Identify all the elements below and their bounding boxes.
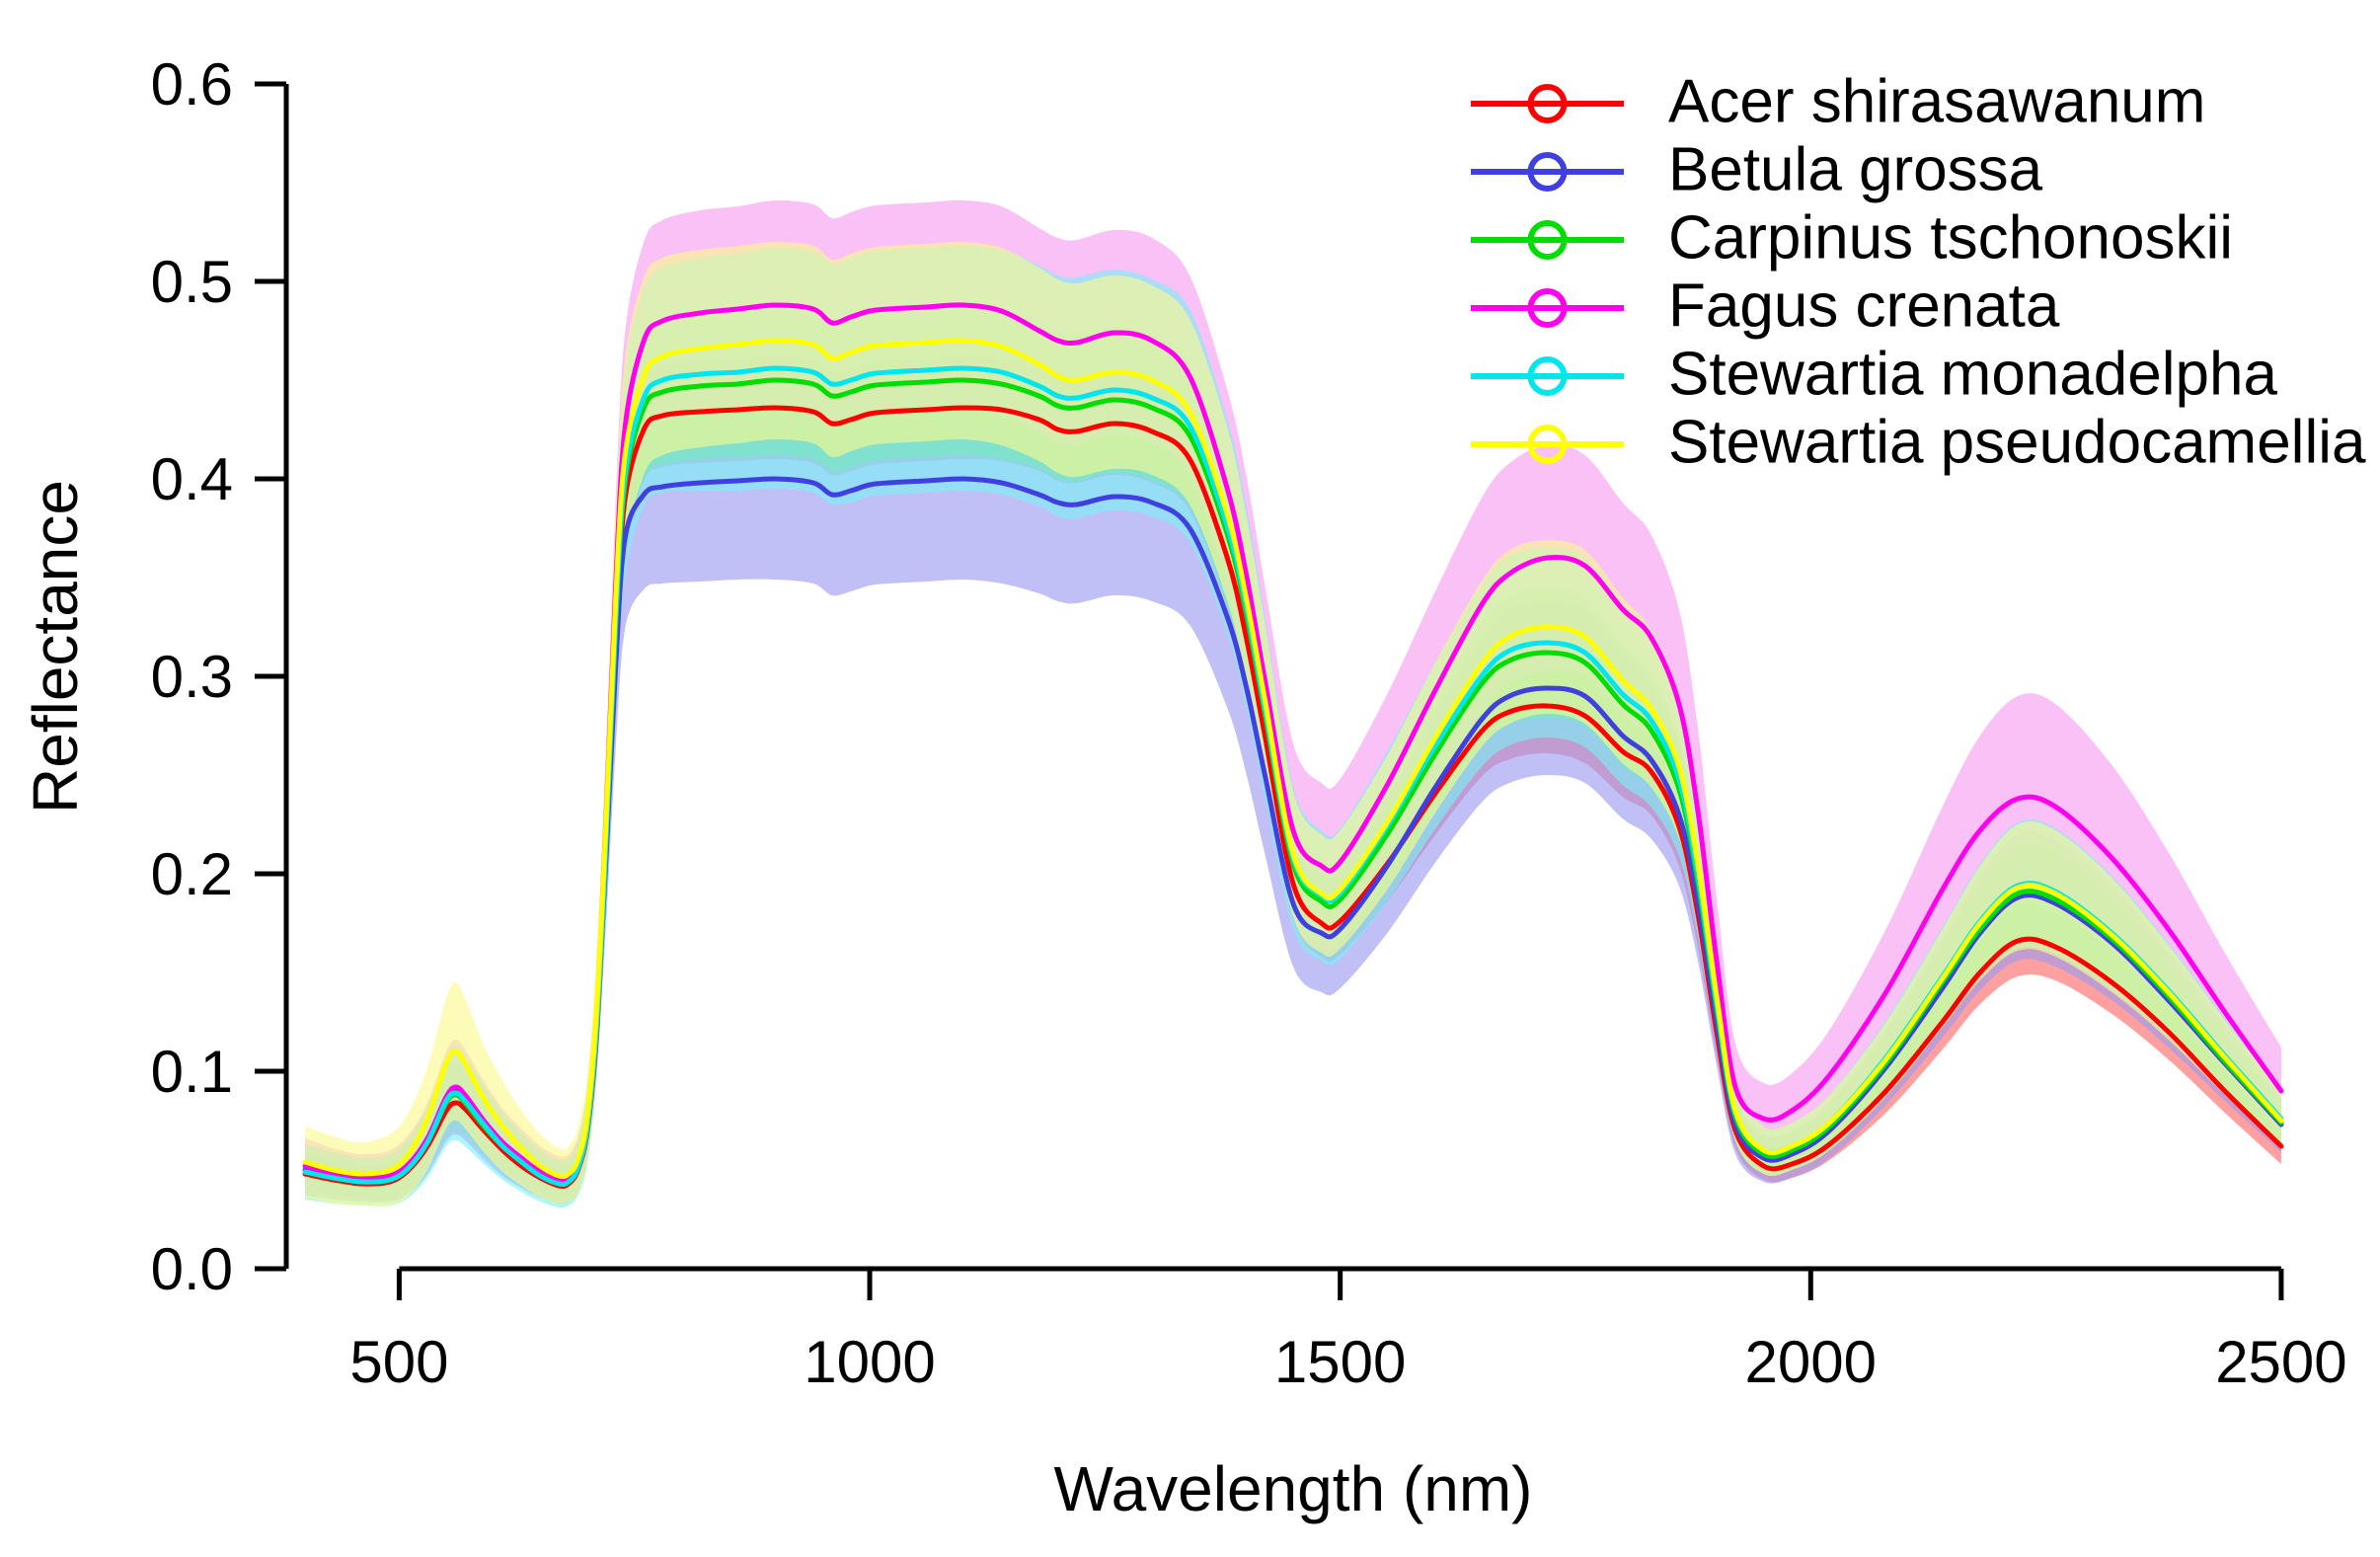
x-tick-label-2: 1500 [1274, 1329, 1406, 1395]
legend-label-0: Acer shirasawanum [1668, 67, 2205, 135]
y-tick-label-1: 0.1 [151, 1039, 233, 1105]
x-tick-label-0: 500 [349, 1329, 448, 1395]
x-axis-title: Wavelength (nm) [1054, 1453, 1533, 1524]
legend-item-2[interactable]: Carpinus tschonoskii [1471, 203, 2233, 272]
x-tick-label-3: 2000 [1745, 1329, 1877, 1395]
legend-label-2: Carpinus tschonoskii [1668, 203, 2233, 272]
spectral-reflectance-figure: 0.00.10.20.30.40.50.65001000150020002500… [0, 0, 2380, 1557]
legend-item-5[interactable]: Stewartia pseudocamellia [1471, 408, 2366, 476]
legend-label-5: Stewartia pseudocamellia [1668, 408, 2366, 476]
legend-label-3: Fagus crenata [1668, 272, 2060, 340]
legend-item-4[interactable]: Stewartia monadelpha [1471, 340, 2277, 408]
y-tick-label-3: 0.3 [151, 644, 233, 710]
y-tick-label-6: 0.6 [151, 51, 233, 117]
y-tick-label-0: 0.0 [151, 1236, 233, 1302]
y-tick-label-2: 0.2 [151, 841, 233, 907]
y-tick-label-4: 0.4 [151, 446, 233, 512]
legend-item-0[interactable]: Acer shirasawanum [1471, 67, 2205, 135]
legend-item-1[interactable]: Betula grossa [1471, 135, 2043, 203]
legend-label-1: Betula grossa [1668, 135, 2043, 203]
chart-legend[interactable]: Acer shirasawanumBetula grossaCarpinus t… [1471, 67, 2366, 476]
y-tick-label-5: 0.5 [151, 249, 233, 315]
x-tick-label-4: 2500 [2215, 1329, 2346, 1395]
legend-item-3[interactable]: Fagus crenata [1471, 272, 2060, 340]
legend-label-4: Stewartia monadelpha [1668, 340, 2277, 408]
y-axis-title: Reflectance [20, 480, 91, 814]
x-tick-label-1: 1000 [804, 1329, 935, 1395]
chart-canvas: 0.00.10.20.30.40.50.65001000150020002500… [0, 0, 2380, 1557]
